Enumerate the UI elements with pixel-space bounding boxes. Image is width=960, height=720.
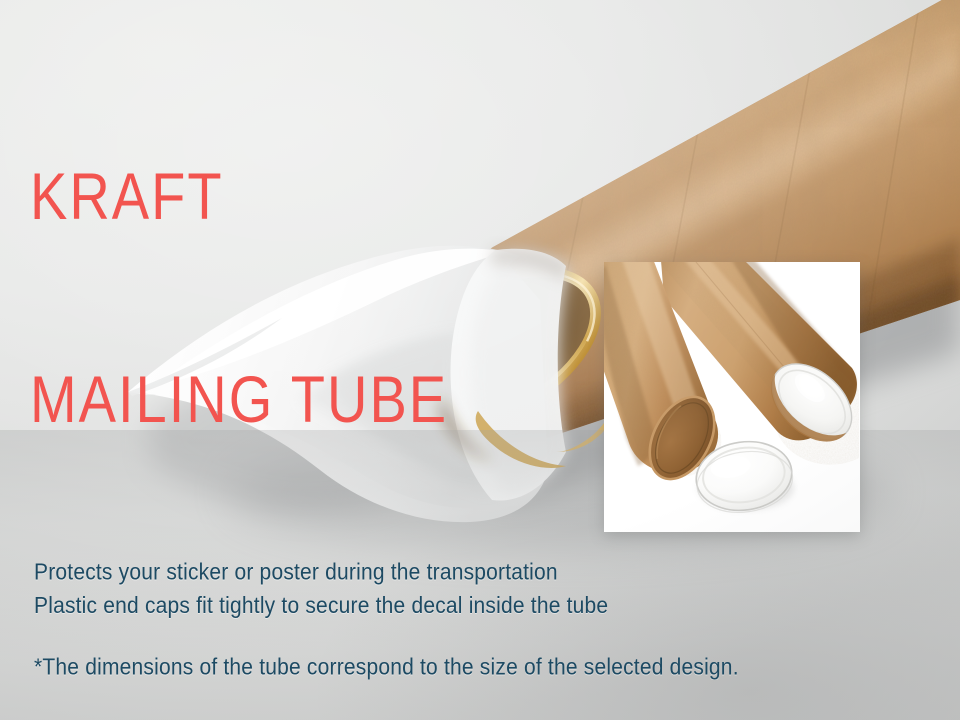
feature-line-1: Protects your sticker or poster during t… bbox=[34, 556, 608, 590]
title-line-1: KRAFT bbox=[30, 163, 448, 230]
footnote-text: *The dimensions of the tube correspond t… bbox=[34, 652, 739, 683]
feature-line-2: Plastic end caps fit tightly to secure t… bbox=[34, 590, 608, 624]
poster-canvas: KRAFT MAILING TUBE Protects your sticker… bbox=[0, 0, 960, 720]
feature-description: Protects your sticker or poster during t… bbox=[34, 556, 608, 623]
page-title: KRAFT MAILING TUBE bbox=[30, 28, 448, 567]
title-line-2: MAILING TUBE bbox=[30, 365, 448, 432]
product-photo-inset[interactable] bbox=[604, 262, 860, 532]
